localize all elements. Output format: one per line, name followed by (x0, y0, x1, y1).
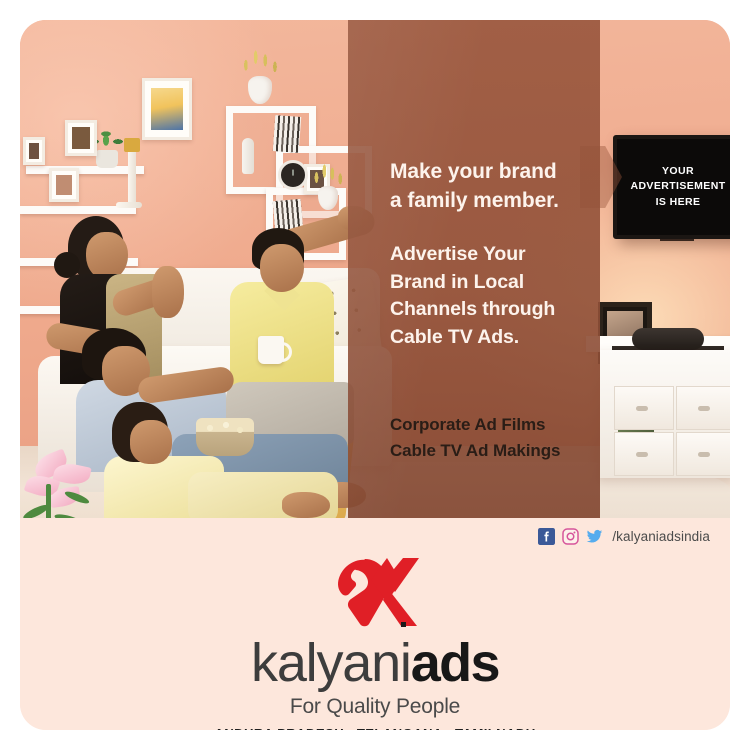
headline-line-1: Make your brand (390, 160, 557, 183)
tv-text-line-2: ADVERTISEMENT (630, 180, 725, 193)
coffee-mug (258, 336, 284, 364)
brand-regions: ANDHRA PRADESH - TELANGANA - TAMILNADU (20, 726, 730, 730)
photo-frame (23, 137, 45, 165)
brand-name-bold: ads (411, 633, 499, 693)
face (130, 420, 172, 464)
headline: Make your brand a family member. (390, 158, 600, 215)
advertisement-poster: YOUR ADVERTISEMENT IS HERE Make your bra… (20, 20, 730, 730)
drawer-knob (636, 452, 648, 457)
social-handle[interactable]: /kalyaniadsindia (612, 529, 710, 544)
brand-block: kalyaniads For Quality People ANDHRA PRA… (20, 556, 730, 730)
photo-frame (65, 120, 97, 156)
twitter-icon[interactable] (586, 528, 603, 545)
living-room-photo: YOUR ADVERTISEMENT IS HERE Make your bra… (20, 20, 730, 518)
plant-pot (96, 150, 118, 168)
social-links: /kalyaniadsindia (538, 528, 710, 545)
drawer-knob (636, 406, 648, 411)
bolster-cushion (632, 328, 704, 350)
subheadline: Advertise Your Brand in Local Channels t… (390, 241, 600, 352)
table-clock (278, 160, 308, 190)
services-list: Corporate Ad Films Cable TV Ad Makings (390, 412, 606, 463)
kalyani-horse-k-logo-icon (325, 556, 425, 634)
framed-artwork (142, 78, 192, 140)
drawer-knob (698, 406, 710, 411)
photo-frame (49, 168, 79, 202)
headline-line-2: a family member. (390, 189, 559, 212)
tv-text-line-1: YOUR (662, 165, 694, 178)
face (86, 232, 128, 280)
facebook-icon[interactable] (538, 528, 555, 545)
panel-copy: Make your brand a family member. Adverti… (390, 158, 600, 352)
dried-wheat (238, 46, 282, 78)
service-item: Corporate Ad Films (390, 412, 606, 438)
books (273, 115, 301, 153)
candle-base (116, 202, 142, 208)
subheadline-line-4: Cable TV Ads. (390, 326, 519, 348)
lily-flowers (20, 450, 124, 518)
wall-shelf (26, 166, 144, 174)
subheadline-line-3: Channels through (390, 298, 555, 320)
face (260, 244, 304, 292)
drawer-knob (698, 452, 710, 457)
tv-text-line-3: IS HERE (656, 196, 701, 209)
clasped-hands (152, 266, 184, 318)
stem (46, 484, 51, 518)
television: YOUR ADVERTISEMENT IS HERE (613, 135, 730, 239)
candle-holder (128, 150, 136, 204)
instagram-icon[interactable] (562, 528, 579, 545)
popcorn-bowl (196, 418, 254, 456)
brand-tagline: For Quality People (20, 695, 730, 719)
footer-bar: /kalyaniadsindia kalyaniads For Quality … (20, 518, 730, 730)
service-item: Cable TV Ad Makings (390, 438, 606, 464)
brand-wordmark: kalyaniads (20, 636, 730, 690)
subheadline-line-1: Advertise Your (390, 243, 526, 265)
tv-ad-placeholder-text: YOUR ADVERTISEMENT IS HERE (617, 139, 730, 235)
decorative-bottle (242, 138, 254, 174)
subheadline-line-2: Brand in Local (390, 271, 524, 293)
foot (282, 492, 330, 518)
dried-wheat (310, 162, 346, 188)
brand-name-light: kalyani (251, 633, 411, 693)
candle (124, 138, 140, 152)
